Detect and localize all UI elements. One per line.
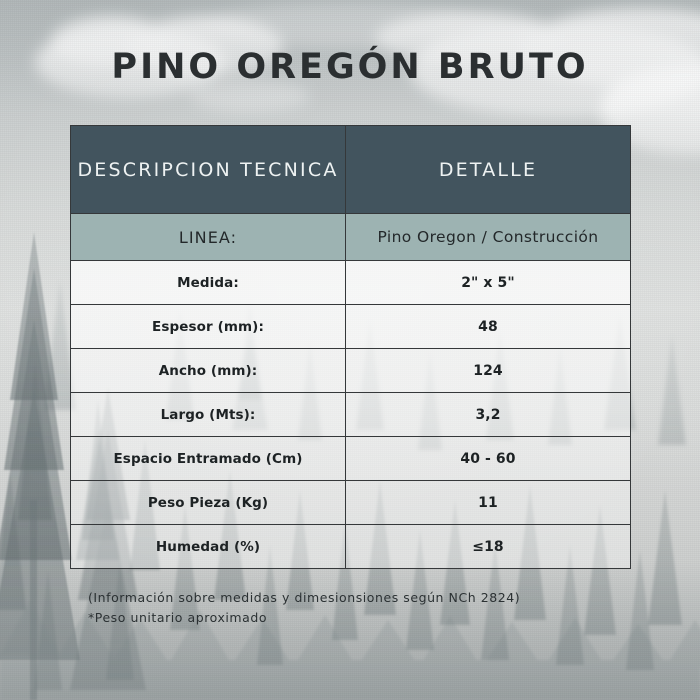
row-label-ancho: Ancho (mm): xyxy=(71,349,346,393)
row-label-espesor: Espesor (mm): xyxy=(71,305,346,349)
column-header-detalle: DETALLE xyxy=(346,126,631,214)
row-label-humedad: Humedad (%) xyxy=(71,525,346,569)
table-row: Medida: 2" x 5" xyxy=(71,261,631,305)
row-label-espacio-entramado: Espacio Entramado (Cm) xyxy=(71,437,346,481)
row-value-espacio-entramado: 40 - 60 xyxy=(346,437,631,481)
page-content: PINO OREGÓN BRUTO DESCRIPCION TECNICA DE… xyxy=(0,0,700,700)
row-label-peso-pieza: Peso Pieza (Kg) xyxy=(71,481,346,525)
column-header-descripcion-tecnica: DESCRIPCION TECNICA xyxy=(71,126,346,214)
footnote-norm-reference: (Información sobre medidas y dimesionsio… xyxy=(88,588,520,608)
row-value-linea: Pino Oregon / Construcción xyxy=(346,214,631,261)
table-row: Espesor (mm): 48 xyxy=(71,305,631,349)
footnotes: (Información sobre medidas y dimesionsio… xyxy=(88,588,520,628)
table-row: Largo (Mts): 3,2 xyxy=(71,393,631,437)
row-value-espesor: 48 xyxy=(346,305,631,349)
row-value-peso-pieza: 11 xyxy=(346,481,631,525)
table-header-row: DESCRIPCION TECNICA DETALLE xyxy=(71,126,631,214)
row-label-linea: LINEA: xyxy=(71,214,346,261)
row-value-humedad: ≤18 xyxy=(346,525,631,569)
table-row: Espacio Entramado (Cm) 40 - 60 xyxy=(71,437,631,481)
specifications-table: DESCRIPCION TECNICA DETALLE LINEA: Pino … xyxy=(70,125,631,569)
table-row: Humedad (%) ≤18 xyxy=(71,525,631,569)
table-row: Ancho (mm): 124 xyxy=(71,349,631,393)
page-title: PINO OREGÓN BRUTO xyxy=(0,47,700,87)
row-value-medida: 2" x 5" xyxy=(346,261,631,305)
footnote-weight-note: *Peso unitario aproximado xyxy=(88,608,520,628)
row-label-largo: Largo (Mts): xyxy=(71,393,346,437)
row-value-ancho: 124 xyxy=(346,349,631,393)
row-value-largo: 3,2 xyxy=(346,393,631,437)
row-label-medida: Medida: xyxy=(71,261,346,305)
table-row-linea: LINEA: Pino Oregon / Construcción xyxy=(71,214,631,261)
table-row: Peso Pieza (Kg) 11 xyxy=(71,481,631,525)
